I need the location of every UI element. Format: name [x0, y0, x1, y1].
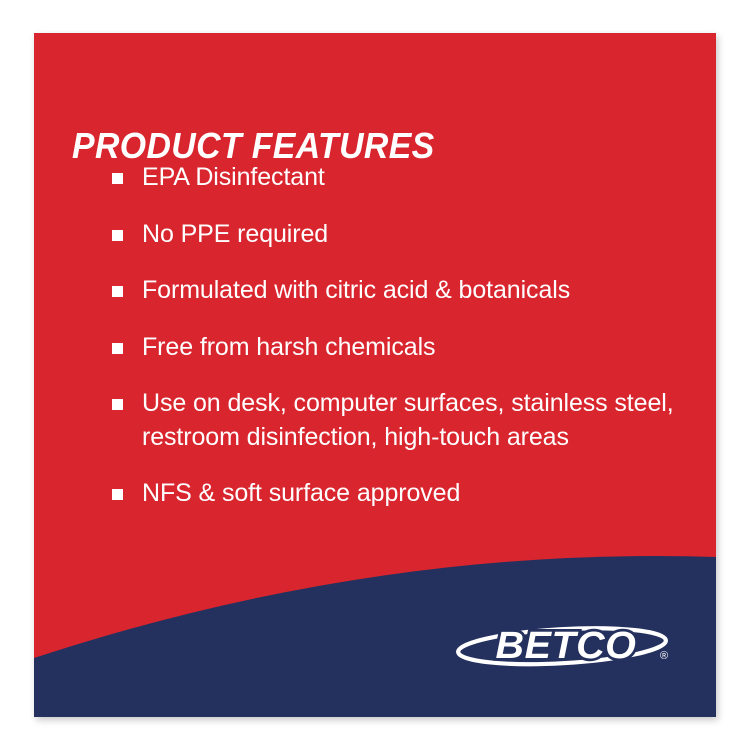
list-item: Formulated with citric acid & botanicals	[72, 274, 692, 308]
feature-list: EPA Disinfectant No PPE required Formula…	[72, 161, 692, 511]
list-item: EPA Disinfectant	[72, 161, 692, 195]
list-item: Use on desk, computer surfaces, stainles…	[72, 387, 692, 454]
square-bullet-icon	[112, 173, 123, 184]
betco-logo: BETCO ®	[455, 620, 677, 672]
registered-trademark-icon: ®	[660, 650, 668, 662]
product-features-graphic: PRODUCT FEATURES EPA Disinfectant No PPE…	[0, 0, 750, 750]
list-item: No PPE required	[72, 218, 692, 252]
page-title: PRODUCT FEATURES	[72, 128, 435, 164]
list-item: Free from harsh chemicals	[72, 331, 692, 365]
square-bullet-icon	[112, 399, 123, 410]
feature-card: PRODUCT FEATURES EPA Disinfectant No PPE…	[34, 33, 716, 717]
feature-text: Free from harsh chemicals	[142, 331, 692, 365]
square-bullet-icon	[112, 230, 123, 241]
feature-text: Use on desk, computer surfaces, stainles…	[142, 387, 692, 454]
feature-text: EPA Disinfectant	[142, 161, 692, 195]
list-item: NFS & soft surface approved	[72, 477, 692, 511]
betco-logo-mark: BETCO ®	[455, 620, 677, 672]
square-bullet-icon	[112, 343, 123, 354]
square-bullet-icon	[112, 489, 123, 500]
feature-text: No PPE required	[142, 218, 692, 252]
logo-wordmark: BETCO	[496, 625, 637, 667]
feature-text: Formulated with citric acid & botanicals	[142, 274, 692, 308]
square-bullet-icon	[112, 286, 123, 297]
feature-text: NFS & soft surface approved	[142, 477, 692, 511]
